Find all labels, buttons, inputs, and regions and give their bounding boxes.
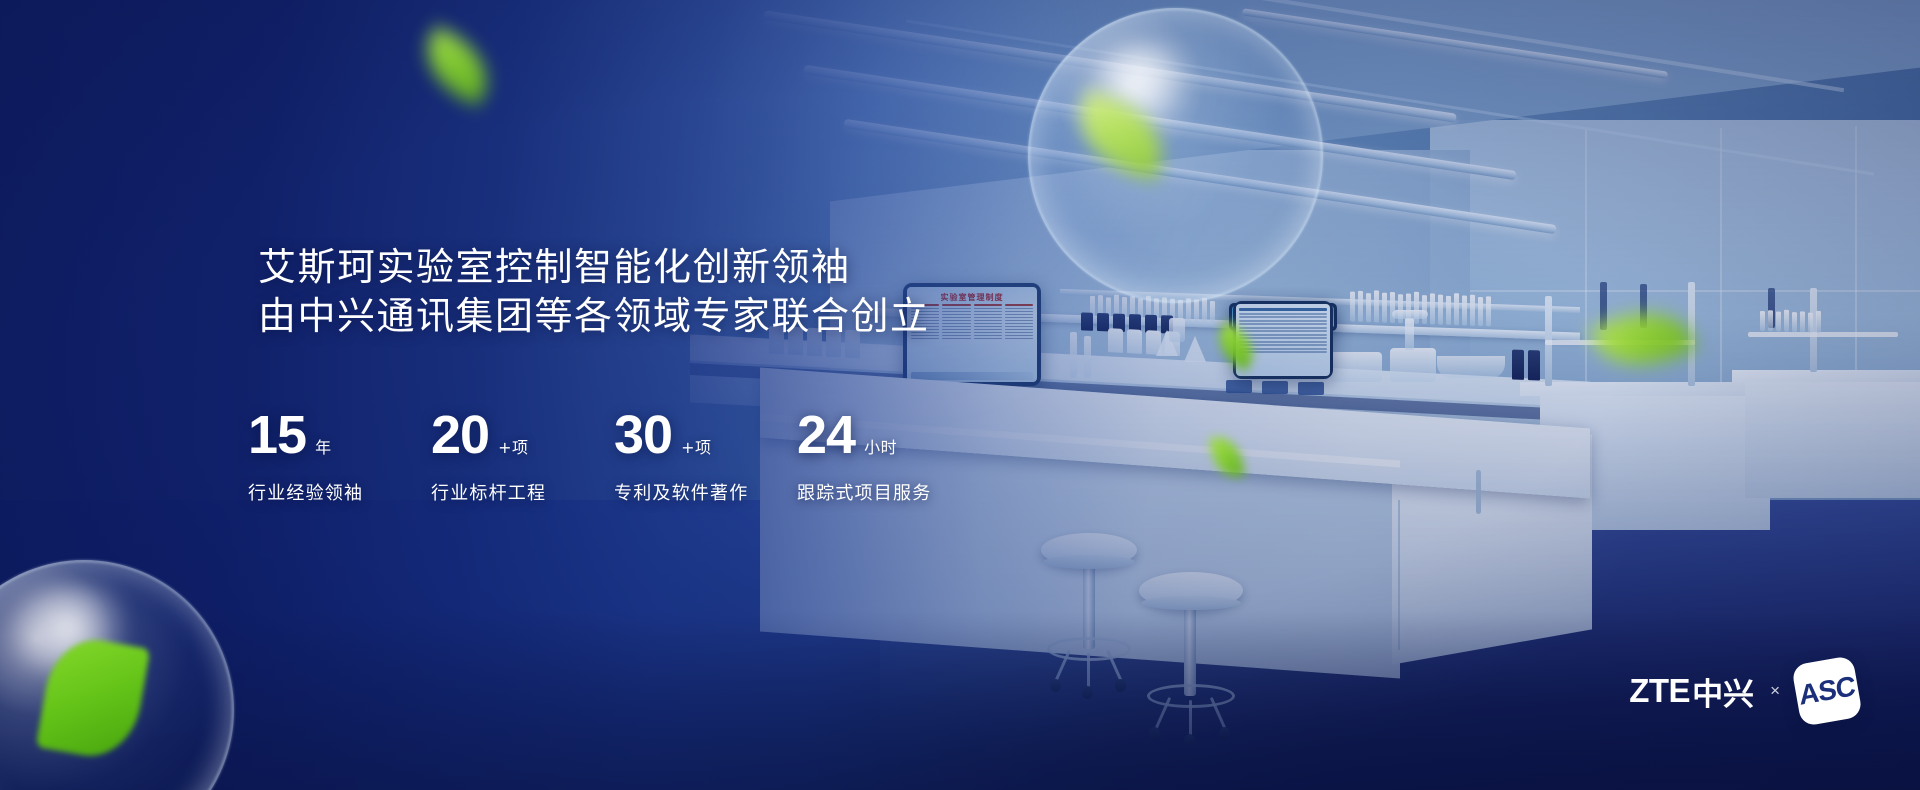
stat-value-group: 24 小时 [797, 408, 980, 462]
headline-block: 艾斯珂实验室控制智能化创新领袖 由中兴通讯集团等各领域专家联合创立 [258, 243, 930, 342]
stat-value-group: 30 +项 [614, 408, 797, 462]
stats-row: 15 年 行业经验领袖 20 +项 行业标杆工程 30 +项 专利及软件著作 [248, 408, 980, 505]
stat-label: 跟踪式项目服务 [797, 479, 980, 505]
stat-unit: +项 [498, 434, 528, 458]
zte-logo-cjk: 中兴 [1692, 669, 1754, 714]
zte-logo: ZTE 中兴 [1629, 669, 1754, 714]
stat-label: 行业经验领袖 [248, 479, 431, 505]
asc-logo-text: ASC [1798, 670, 1856, 712]
stat-item-service: 24 小时 跟踪式项目服务 [797, 408, 980, 505]
headline-line-2: 由中兴通讯集团等各领域专家联合创立 [258, 292, 930, 341]
stat-unit: +项 [681, 434, 711, 458]
stat-label: 专利及软件著作 [614, 479, 797, 505]
stat-number: 20 [431, 408, 489, 462]
stat-number: 15 [248, 408, 306, 462]
stat-label: 行业标杆工程 [431, 479, 614, 505]
logo-separator: × [1770, 681, 1780, 701]
stat-value-group: 20 +项 [431, 408, 614, 462]
stat-item-patents: 30 +项 专利及软件著作 [614, 408, 797, 505]
stat-unit: 小时 [864, 434, 897, 458]
stat-item-experience: 15 年 行业经验领袖 [248, 408, 431, 505]
stat-number: 30 [614, 408, 672, 462]
banner-content: 艾斯珂实验室控制智能化创新领袖 由中兴通讯集团等各领域专家联合创立 15 年 行… [0, 0, 1920, 790]
zte-logo-latin: ZTE [1629, 672, 1690, 710]
stat-item-benchmark-projects: 20 +项 行业标杆工程 [431, 408, 614, 505]
hero-banner: 实验室管理制度 [0, 0, 1920, 790]
stat-unit: 年 [315, 434, 332, 458]
headline-line-1: 艾斯珂实验室控制智能化创新领袖 [258, 243, 930, 292]
stat-value-group: 15 年 [248, 408, 431, 462]
asc-logo: ASC [1791, 655, 1863, 727]
logo-lockup: ZTE 中兴 × ASC [1629, 660, 1858, 722]
stat-number: 24 [797, 408, 855, 462]
